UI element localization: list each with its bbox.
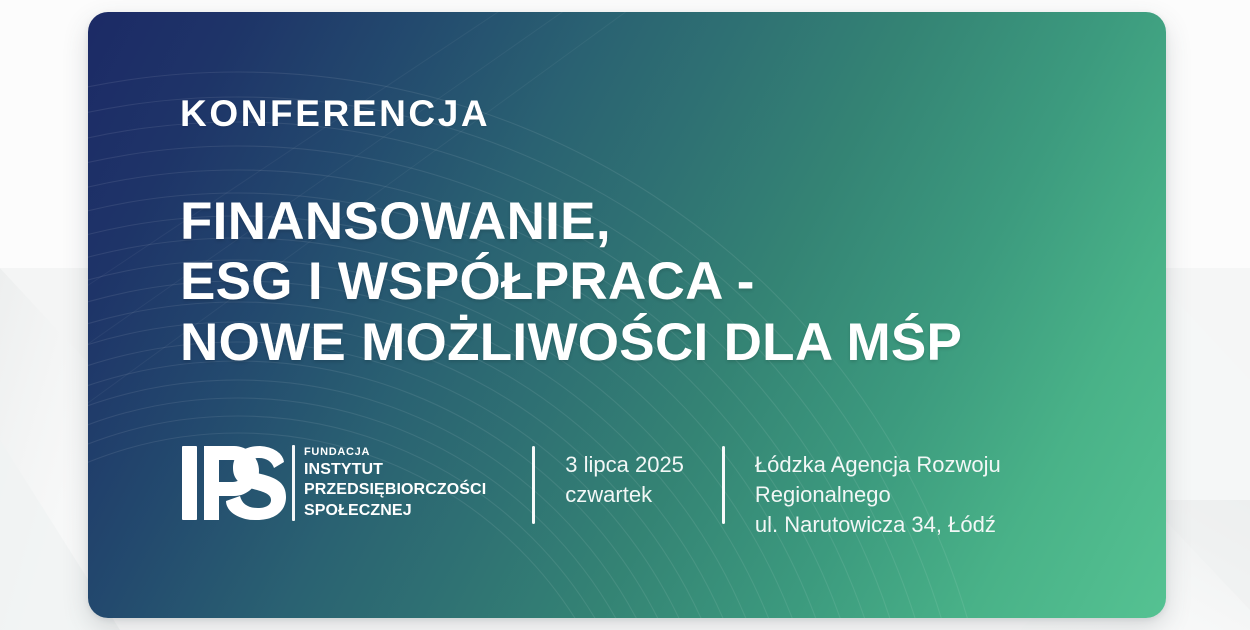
separator-1 — [532, 446, 535, 524]
event-venue-line-1: Łódzka Agencja Rozwoju — [755, 450, 1001, 480]
logo-divider — [292, 445, 295, 521]
event-date-line-2: czwartek — [565, 480, 684, 510]
ips-monogram-icon — [180, 442, 288, 524]
logo-name-line-1: INSTYTUT — [304, 460, 486, 480]
event-date: 3 lipca 2025 czwartek — [565, 450, 684, 510]
footer-info-row: FUNDACJA INSTYTUT PRZEDSIĘBIORCZOŚCI SPO… — [180, 436, 1001, 546]
logo-wordmark: FUNDACJA INSTYTUT PRZEDSIĘBIORCZOŚCI SPO… — [304, 445, 486, 520]
event-date-line-1: 3 lipca 2025 — [565, 450, 684, 480]
page-title: FINANSOWANIE, ESG I WSPÓŁPRACA - NOWE MO… — [180, 192, 962, 373]
ips-logo: FUNDACJA INSTYTUT PRZEDSIĘBIORCZOŚCI SPO… — [180, 436, 486, 524]
headline-line-2: ESG I WSPÓŁPRACA - — [180, 252, 962, 312]
logo-name-line-2: PRZEDSIĘBIORCZOŚCI — [304, 480, 486, 500]
kicker-label: KONFERENCJA — [180, 95, 490, 132]
logo-name-line-3: SPOŁECZNEJ — [304, 501, 486, 521]
poster-canvas: KONFERENCJA FINANSOWANIE, ESG I WSPÓŁPRA… — [0, 0, 1250, 630]
headline-line-3: NOWE MOŻLIWOŚCI DLA MŚP — [180, 313, 962, 373]
event-venue: Łódzka Agencja Rozwoju Regionalnego ul. … — [755, 450, 1001, 540]
conference-banner-card: KONFERENCJA FINANSOWANIE, ESG I WSPÓŁPRA… — [88, 12, 1166, 618]
separator-2 — [722, 446, 725, 524]
headline-line-1: FINANSOWANIE, — [180, 192, 962, 252]
logo-foundation-label: FUNDACJA — [304, 445, 486, 460]
event-venue-line-3: ul. Narutowicza 34, Łódź — [755, 510, 1001, 540]
event-venue-line-2: Regionalnego — [755, 480, 1001, 510]
